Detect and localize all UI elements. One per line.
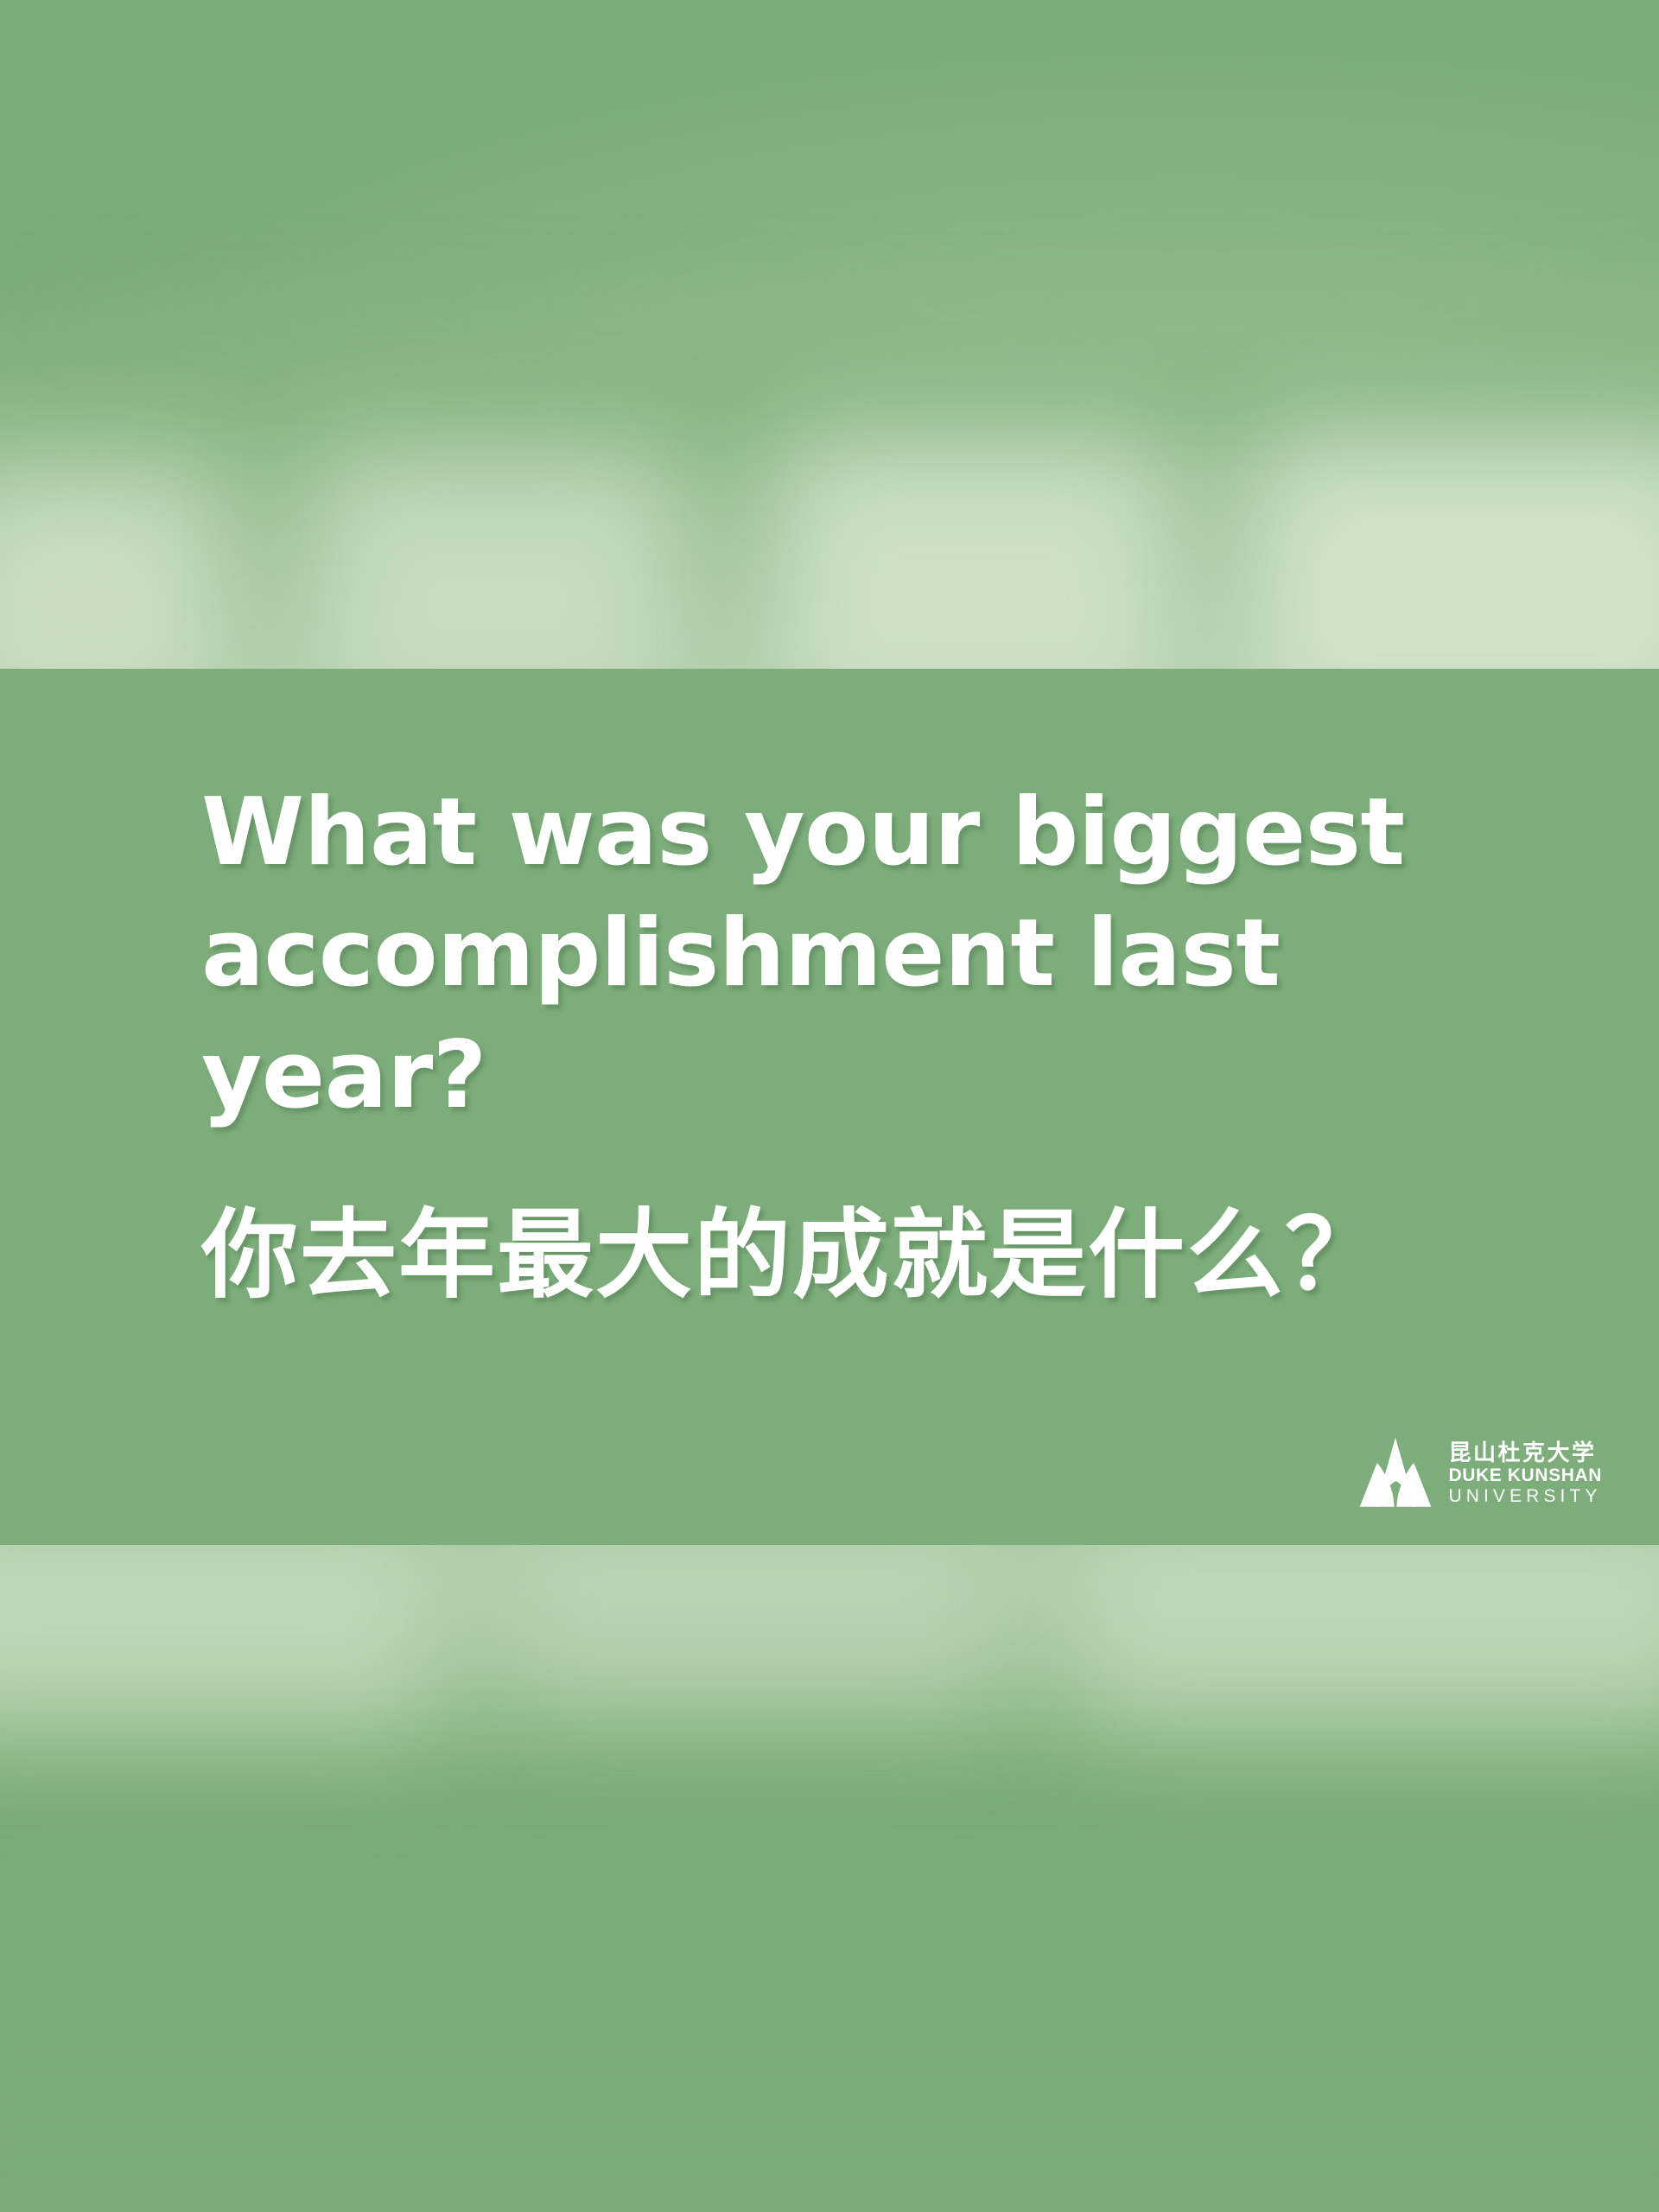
- content-panel: What was your biggest accomplishment las…: [0, 669, 1659, 1545]
- background-blur-band-bottom: [0, 1544, 1659, 2212]
- headline-chinese: 你去年最大的成就是什么？: [201, 1198, 1549, 1313]
- duke-kunshan-university-logo: 昆山杜克大学 DUKE KUNSHAN UNIVERSITY: [1358, 1436, 1602, 1510]
- blurred-panel-1: [0, 471, 225, 670]
- blurred-panel-5: [0, 1544, 449, 1734]
- blurred-panel-7: [1063, 1544, 1659, 1730]
- background-lower-gradient: [0, 1751, 1659, 2212]
- headline-english: What was your biggest accomplishment las…: [201, 772, 1549, 1136]
- logo-english-line-2: UNIVERSITY: [1448, 1486, 1602, 1507]
- logo-wordmark: 昆山杜克大学 DUKE KUNSHAN UNIVERSITY: [1448, 1442, 1602, 1510]
- logo-english-line-1: DUKE KUNSHAN: [1448, 1465, 1602, 1486]
- blurred-panel-3: [773, 441, 1179, 670]
- logo-chinese-name: 昆山杜克大学: [1448, 1442, 1602, 1466]
- blurred-panel-4: [1244, 436, 1659, 670]
- headline-block: What was your biggest accomplishment las…: [201, 772, 1549, 1313]
- background-blur-band-top: [0, 0, 1659, 670]
- slide-canvas: What was your biggest accomplishment las…: [0, 0, 1659, 2212]
- blurred-panel-2: [311, 458, 683, 670]
- blurred-panel-6: [484, 1544, 1020, 1717]
- duke-kunshan-triangle-mark-icon: [1358, 1436, 1433, 1510]
